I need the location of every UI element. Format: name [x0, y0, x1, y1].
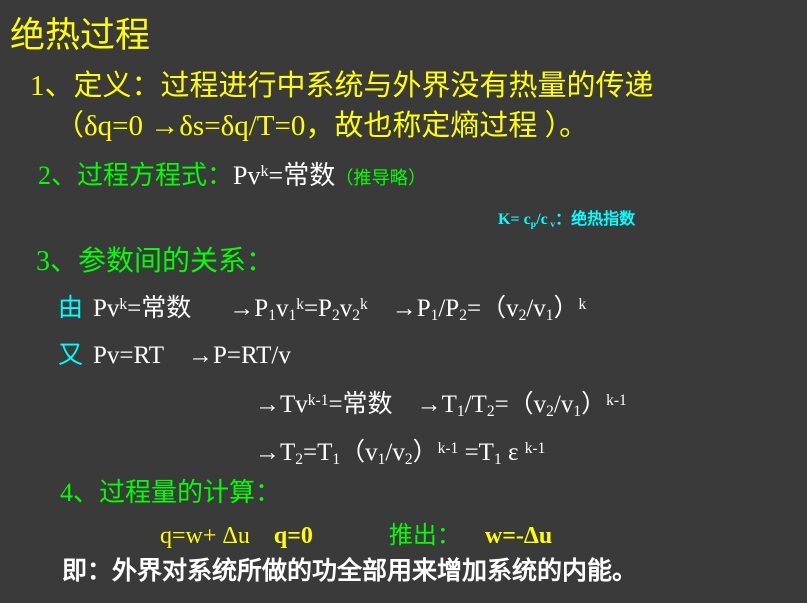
process-equation-note: （推导略） — [335, 168, 426, 188]
calc-conclusion-formula: w=-Δu — [485, 523, 552, 549]
relation-row-2-formula: Pv=RT→P=RT/v — [93, 342, 291, 369]
calc-q-zero: q=0 — [274, 523, 313, 549]
relation-row-2: 又Pv=RT→P=RT/v — [58, 343, 291, 368]
process-equation-formula: Pvk=常数 — [233, 161, 335, 190]
calculation-heading: 4、过程量的计算： — [60, 480, 281, 506]
process-equation-label: 2、过程方程式： — [38, 161, 233, 190]
relation-row-4: →T2=T1（v1/v2）k-1 =T1 ε k-1 — [255, 440, 545, 465]
page-title: 绝热过程 — [10, 18, 150, 53]
calculation-row: q=w+ Δuq=0推出：w=-Δu — [160, 524, 552, 548]
relation-row-1-prefix: 由 — [58, 295, 83, 322]
summary-line: 即：外界对系统所做的功全部用来增加系统的内能。 — [62, 559, 637, 584]
relation-row-3: →Tvk-1=常数→T1/T2=（v2/v1）k-1 — [255, 392, 627, 417]
calc-q-w-u: q=w+ Δu — [160, 523, 250, 549]
process-equation-row: 2、过程方程式：Pvk=常数（推导略） — [38, 163, 426, 189]
relations-heading: 3、参数间的关系： — [36, 248, 274, 276]
relation-row-1-formula: Pvk=常数→P1v1k=P2v2k→P1/P2=（v2/v1）k — [93, 295, 586, 322]
relation-row-1: 由Pvk=常数→P1v1k=P2v2k→P1/P2=（v2/v1）k — [58, 296, 586, 321]
relation-row-2-prefix: 又 — [58, 342, 83, 369]
k-definition: K= cp/c v：绝热指数 — [498, 212, 635, 228]
calc-conclusion-label: 推出： — [389, 523, 461, 549]
definition-line-2: （δq=0 →δs=δq/T=0，故也称定熵过程 ）。 — [55, 112, 588, 141]
slide-canvas: 绝热过程 1、定义：过程进行中系统与外界没有热量的传递 （δq=0 →δs=δq… — [0, 0, 807, 603]
definition-line-1: 1、定义：过程进行中系统与外界没有热量的传递 — [30, 72, 654, 101]
